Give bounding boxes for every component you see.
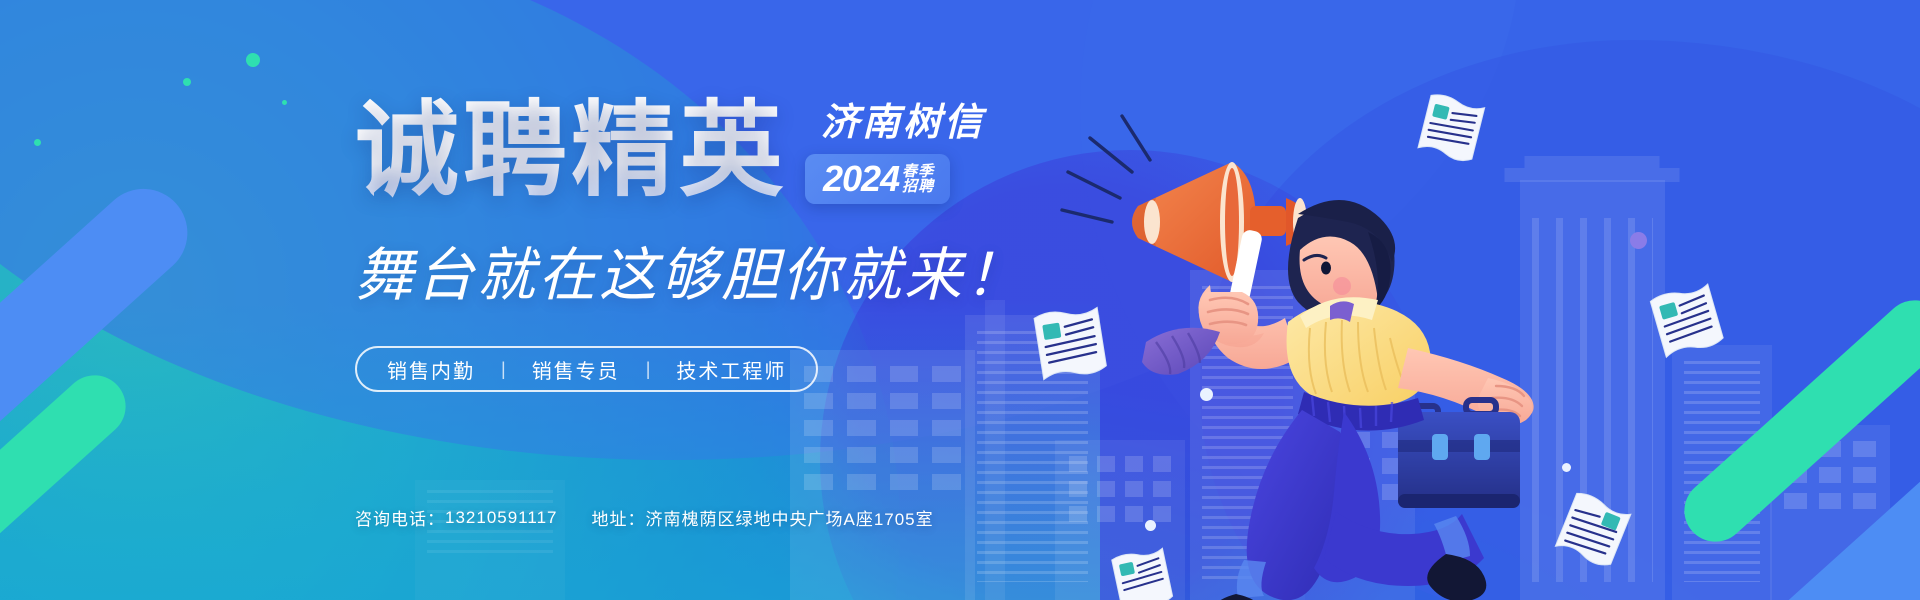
role-separator: | (646, 359, 651, 380)
role-item-0[interactable]: 销售内勤 (387, 355, 475, 384)
badge-year: 2024 (823, 161, 899, 197)
illustration-running-businessman (1060, 110, 1580, 600)
phone-label: 咨询电话： (355, 505, 445, 530)
page-subtitle: 舞台就在这够胆你就来！ (355, 228, 1055, 312)
badge-sub-line-1: 春季 (902, 164, 934, 179)
megaphone-icon (1132, 162, 1310, 303)
brand-block: 济南树信 2024 春季 招聘 (805, 104, 985, 204)
company-name: 济南树信 (821, 104, 985, 142)
address-value: 济南槐荫区绿地中央广场A座1705室 (645, 505, 933, 530)
badge-subtitle: 春季 招聘 (902, 164, 934, 195)
sound-wave-lines (1062, 116, 1150, 222)
role-separator: | (501, 359, 506, 380)
banner-content: 诚聘精英 济南树信 2024 春季 招聘 舞台就在这够胆你就来！ 销售内勤 | … (355, 96, 1055, 392)
role-item-1[interactable]: 销售专员 (532, 355, 620, 384)
headline-row: 诚聘精英 济南树信 2024 春季 招聘 (355, 96, 1055, 206)
decor-dot-teal (246, 53, 260, 67)
phone-value[interactable]: 13210591117 (445, 508, 557, 528)
decor-dot-teal (183, 78, 191, 86)
recruitment-banner: 诚聘精英 济南树信 2024 春季 招聘 舞台就在这够胆你就来！ 销售内勤 | … (0, 0, 1920, 600)
status-badge: 2024 春季 招聘 (805, 154, 950, 204)
badge-sub-line-2: 招聘 (902, 179, 934, 194)
page-title: 诚聘精英 (355, 96, 787, 206)
role-item-2[interactable]: 技术工程师 (676, 355, 786, 384)
address-label: 地址： (591, 505, 645, 530)
decor-dot-purple (1630, 232, 1647, 249)
building-window-grid (804, 366, 961, 576)
contact-info: 咨询电话： 13210591117 地址： 济南槐荫区绿地中央广场A座1705室 (355, 505, 934, 530)
building-silhouette (415, 480, 565, 600)
role-list: 销售内勤 | 销售专员 | 技术工程师 (355, 346, 818, 392)
decor-dot-teal (282, 100, 287, 105)
decor-dot-teal (34, 139, 41, 146)
